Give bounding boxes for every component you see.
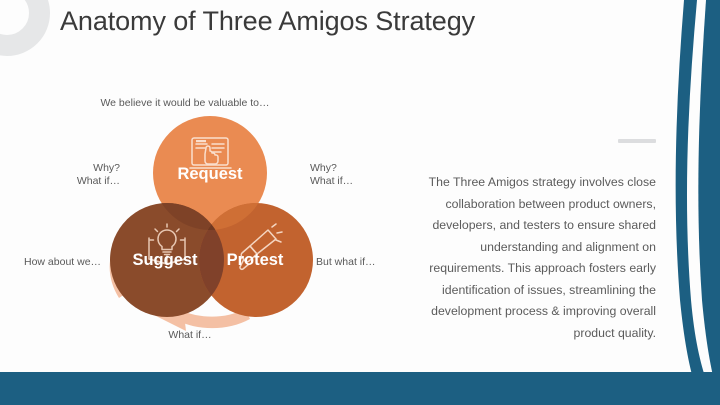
body-paragraph: The Three Amigos strategy involves close… — [406, 172, 656, 344]
three-amigos-venn-diagram: Request Suggest Protest We believe it wo… — [0, 88, 400, 358]
venn-label-request: Request — [150, 165, 270, 184]
corner-ring-decoration — [0, 0, 50, 56]
caption-left-lower: How about we… — [0, 256, 122, 269]
caption-top: We believe it would be valuable to… — [60, 97, 310, 110]
caption-bottom: What if… — [120, 329, 260, 342]
page-title: Anatomy of Three Amigos Strategy — [60, 4, 620, 38]
slide-canvas: Anatomy of Three Amigos Strategy — [0, 0, 720, 405]
edge-ribbon-decoration — [650, 0, 720, 405]
caption-right-upper: Why? What if… — [310, 162, 410, 188]
bottom-accent-bar — [0, 372, 720, 405]
text-divider — [618, 139, 656, 143]
venn-label-protest: Protest — [195, 251, 315, 270]
caption-left-upper: Why? What if… — [20, 162, 120, 188]
